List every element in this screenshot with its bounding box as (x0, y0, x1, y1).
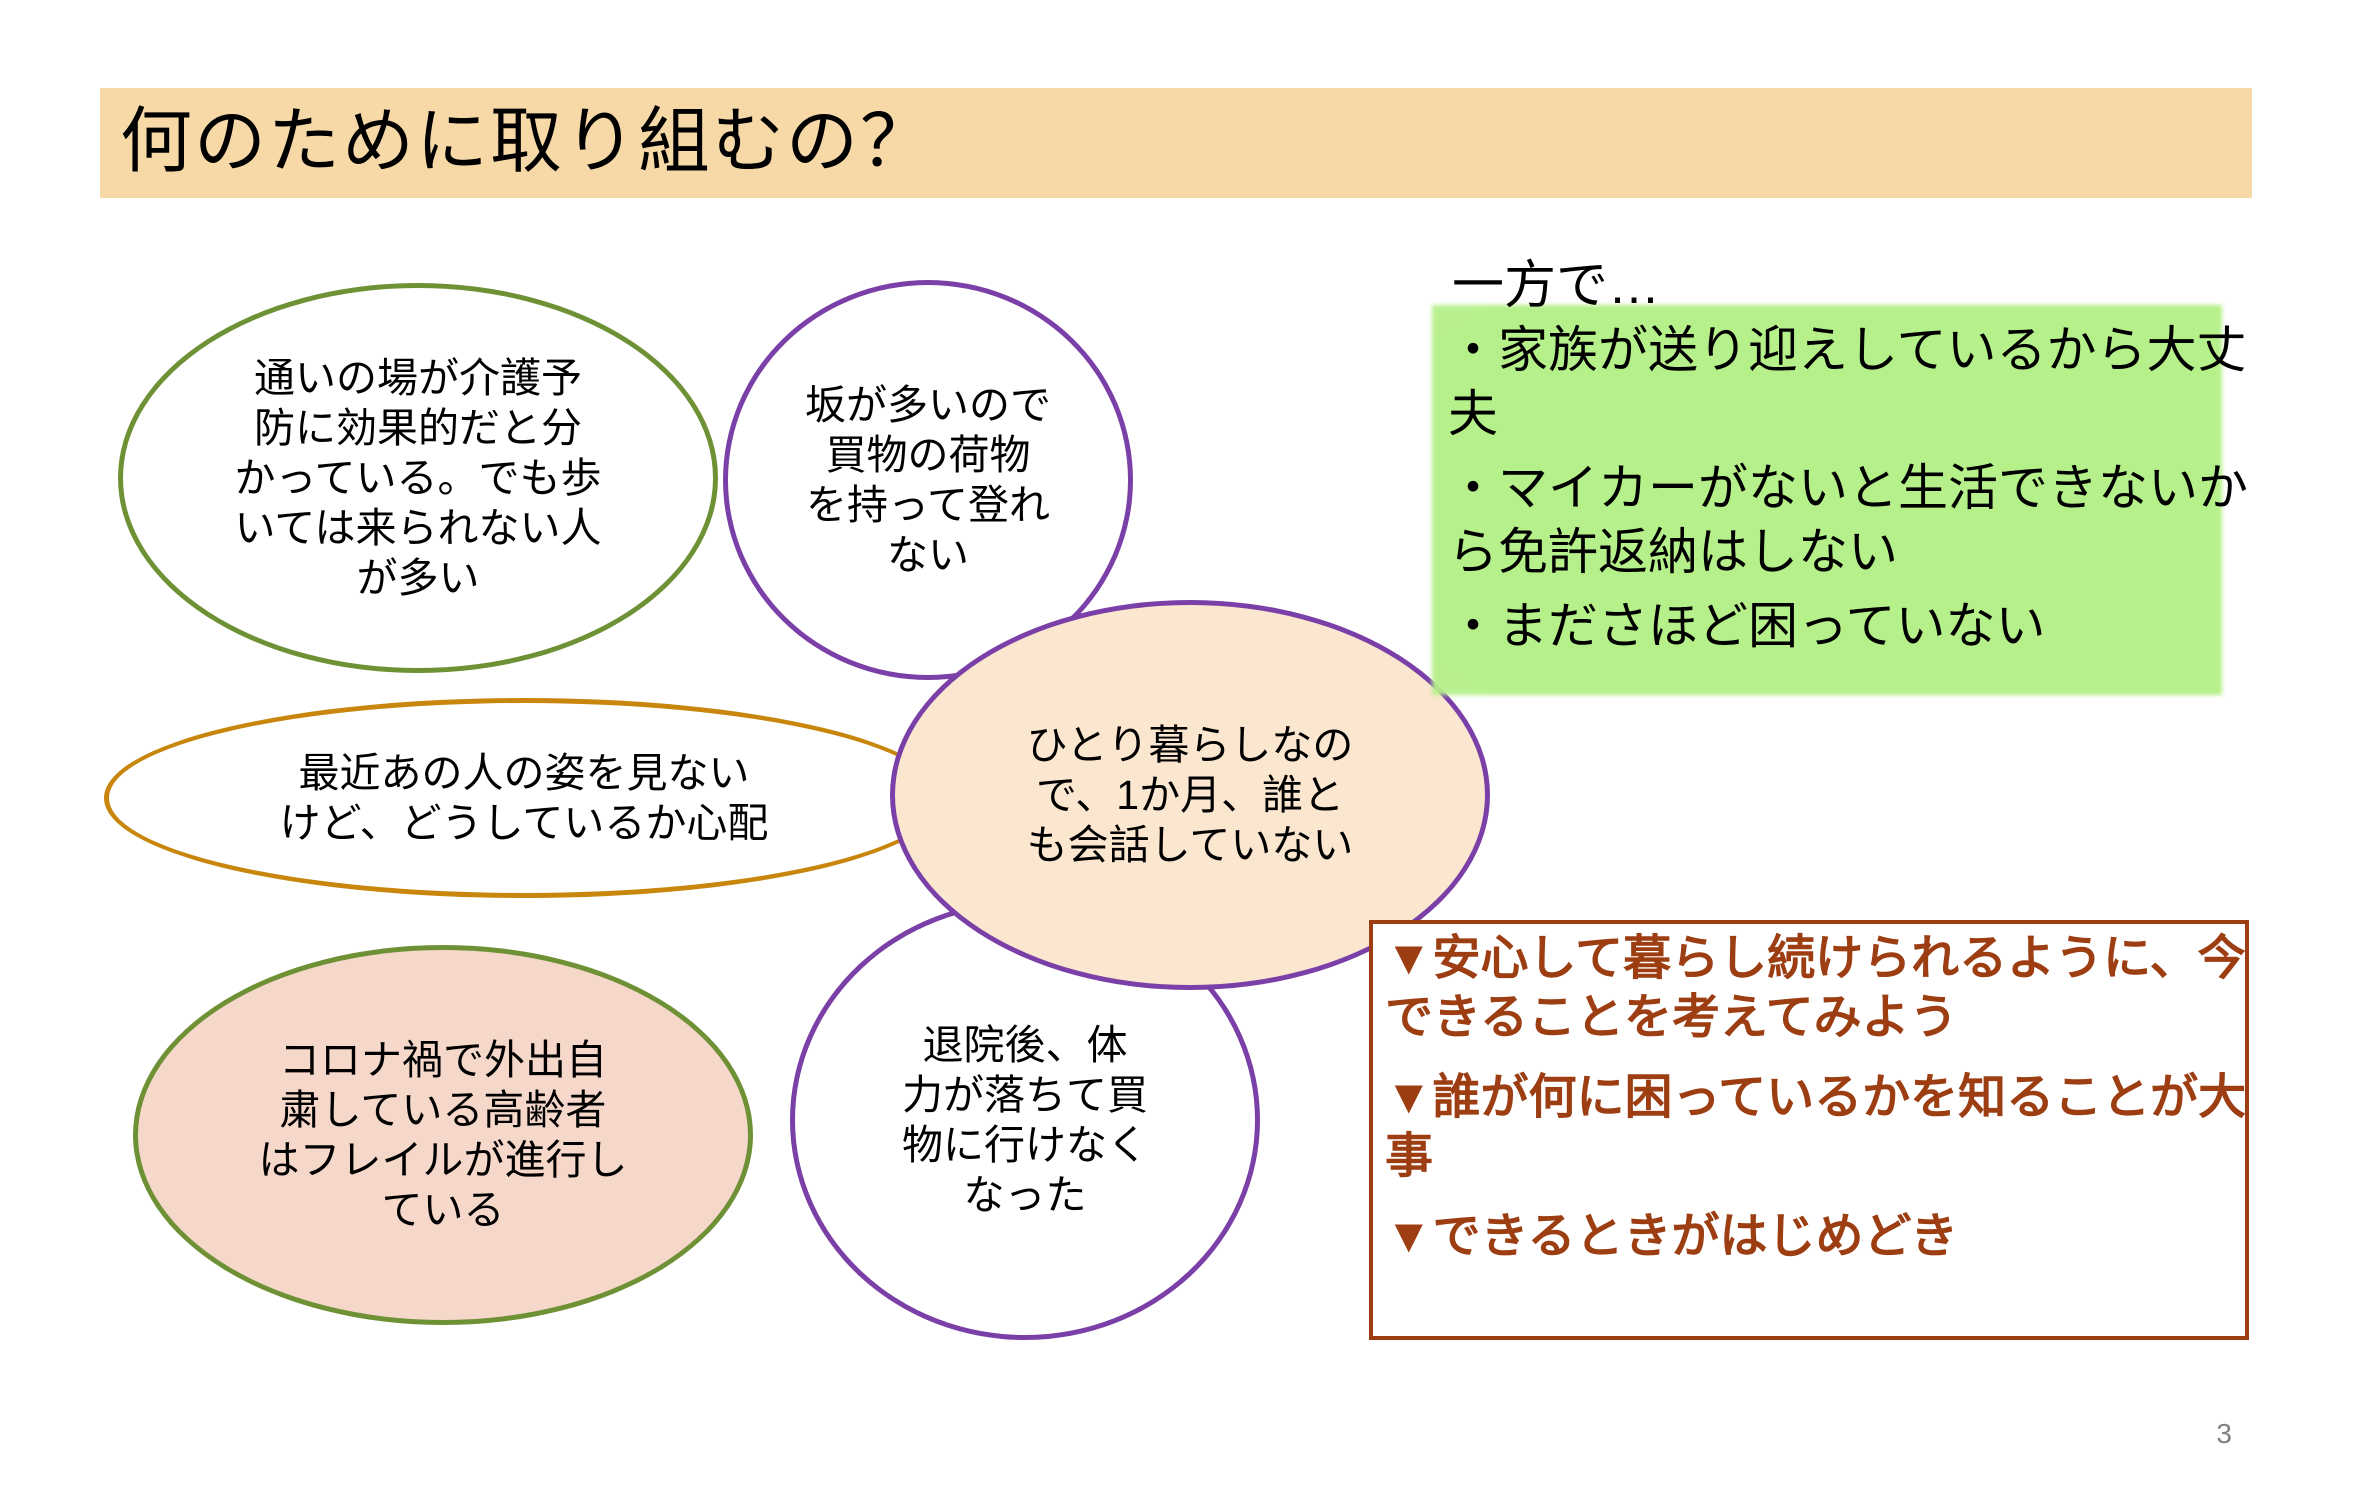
page-number: 3 (2216, 1418, 2232, 1450)
bubble-text: 通いの場が介護予 防に効果的だと分 かっている。でも歩 いては来られない人 が多… (183, 353, 653, 603)
highlight-panel: ・家族が送り迎えしているから大丈夫 ・マイカーがないと生活できないから免許返納は… (1448, 318, 2248, 668)
bubble-covid-frailty: コロナ禍で外出自 粛している高齢者 はフレイルが進行し ている (133, 945, 753, 1325)
action-item: ▼安心して暮らし続けられるように、今できることを考えてみよう (1385, 930, 2255, 1047)
bubble-text: コロナ禍で外出自 粛している高齢者 はフレイルが進行し ている (208, 1035, 678, 1235)
action-item: ▼できるときがはじめどき (1385, 1208, 2255, 1267)
page-title: 何のために取り組むの？ (120, 82, 2120, 202)
bubble-text: 最近あの人の姿を見ない けど、どうしているか心配 (174, 748, 874, 848)
highlight-item: ・まださほど困っていない (1448, 594, 2248, 658)
action-item: ▼誰が何に困っているかを知ることが大事 (1385, 1069, 2255, 1186)
action-panel: ▼安心して暮らし続けられるように、今できることを考えてみよう ▼誰が何に困ってい… (1385, 930, 2255, 1289)
bubble-missing-neighbor: 最近あの人の姿を見ない けど、どうしているか心配 (104, 698, 944, 898)
highlight-item: ・マイカーがないと生活できないから免許返納はしない (1448, 456, 2248, 584)
highlight-lead-label: 一方で… (1452, 258, 1660, 315)
bubble-text: ひとり暮らしなの で、1か月、誰と も会話していない (965, 720, 1415, 870)
highlight-item: ・家族が送り迎えしているから大丈夫 (1448, 318, 2248, 446)
bubble-community-gathering: 通いの場が介護予 防に効果的だと分 かっている。でも歩 いては来られない人 が多… (118, 283, 718, 673)
bubble-text: 退院後、体 力が落ちて買 物に行けなく なった (860, 1020, 1190, 1220)
bubble-text: 坂が多いので 買物の荷物 を持って登れ ない (768, 380, 1088, 580)
